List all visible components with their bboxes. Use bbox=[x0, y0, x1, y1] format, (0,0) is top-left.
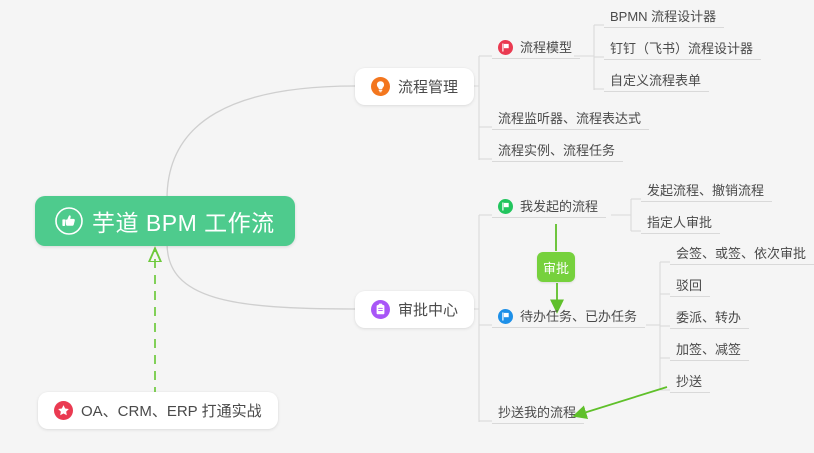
node-label: 流程模型 bbox=[520, 41, 572, 58]
clipboard-icon bbox=[371, 300, 390, 319]
node-label: 指定人审批 bbox=[647, 216, 712, 233]
node-label: 流程实例、流程任务 bbox=[498, 144, 615, 161]
branch-node-approval-center[interactable]: 审批中心 bbox=[355, 291, 474, 328]
node-label: 加签、减签 bbox=[676, 343, 741, 360]
node-todo-done-tasks[interactable]: 待办任务、已办任务 bbox=[492, 307, 645, 328]
node-label: 抄送我的流程 bbox=[498, 406, 576, 423]
root-label: 芋道 BPM 工作流 bbox=[92, 204, 275, 238]
node-label: 我发起的流程 bbox=[520, 200, 598, 217]
node-label: 发起流程、撤销流程 bbox=[647, 184, 764, 201]
cc-link-arrow bbox=[574, 387, 667, 416]
branch-label: 流程管理 bbox=[398, 76, 458, 97]
node-label: 钉钉（飞书）流程设计器 bbox=[610, 42, 753, 59]
approval-badge[interactable]: 审批 bbox=[537, 252, 575, 282]
node-custom-form[interactable]: 自定义流程表单 bbox=[604, 71, 709, 92]
node-cc-to-me[interactable]: 抄送我的流程 bbox=[492, 403, 584, 424]
flag-icon bbox=[498, 199, 513, 214]
node-process-model[interactable]: 流程模型 bbox=[492, 38, 580, 59]
node-add-remove-sign[interactable]: 加签、减签 bbox=[670, 340, 749, 361]
node-label: 流程监听器、流程表达式 bbox=[498, 112, 641, 129]
node-reject[interactable]: 驳回 bbox=[670, 276, 710, 297]
node-cc[interactable]: 抄送 bbox=[670, 372, 710, 393]
node-assigned-approver[interactable]: 指定人审批 bbox=[641, 213, 720, 234]
branch-label: 审批中心 bbox=[398, 299, 458, 320]
branch-node-process-management[interactable]: 流程管理 bbox=[355, 68, 474, 105]
flag-icon bbox=[498, 40, 513, 55]
approval-badge-label: 审批 bbox=[543, 258, 569, 277]
integration-node-label: OA、CRM、ERP 打通实战 bbox=[81, 400, 262, 421]
node-process-instance[interactable]: 流程实例、流程任务 bbox=[492, 141, 623, 162]
node-bpmn-designer[interactable]: BPMN 流程设计器 bbox=[604, 7, 724, 28]
node-my-initiated[interactable]: 我发起的流程 bbox=[492, 197, 606, 218]
star-icon bbox=[54, 401, 73, 420]
node-label: 会签、或签、依次审批 bbox=[676, 247, 806, 264]
node-label: 抄送 bbox=[676, 375, 702, 392]
flag-icon bbox=[498, 309, 513, 324]
node-process-listener[interactable]: 流程监听器、流程表达式 bbox=[492, 109, 649, 130]
mindmap-canvas: 芋道 BPM 工作流 流程管理 流程模型 BPMN 流程设计器 钉钉（飞书）流程… bbox=[0, 0, 814, 453]
thumbs-up-icon bbox=[55, 207, 83, 235]
node-label: 待办任务、已办任务 bbox=[520, 310, 637, 327]
lightbulb-icon bbox=[371, 77, 390, 96]
root-node[interactable]: 芋道 BPM 工作流 bbox=[35, 196, 295, 246]
node-label: 驳回 bbox=[676, 279, 702, 296]
node-label: 委派、转办 bbox=[676, 311, 741, 328]
node-countersign[interactable]: 会签、或签、依次审批 bbox=[670, 244, 814, 265]
node-label: 自定义流程表单 bbox=[610, 74, 701, 91]
node-delegate-transfer[interactable]: 委派、转办 bbox=[670, 308, 749, 329]
node-dingtalk-designer[interactable]: 钉钉（飞书）流程设计器 bbox=[604, 39, 761, 60]
node-start-cancel-process[interactable]: 发起流程、撤销流程 bbox=[641, 181, 772, 202]
integration-node[interactable]: OA、CRM、ERP 打通实战 bbox=[38, 392, 278, 429]
node-label: BPMN 流程设计器 bbox=[610, 10, 716, 27]
